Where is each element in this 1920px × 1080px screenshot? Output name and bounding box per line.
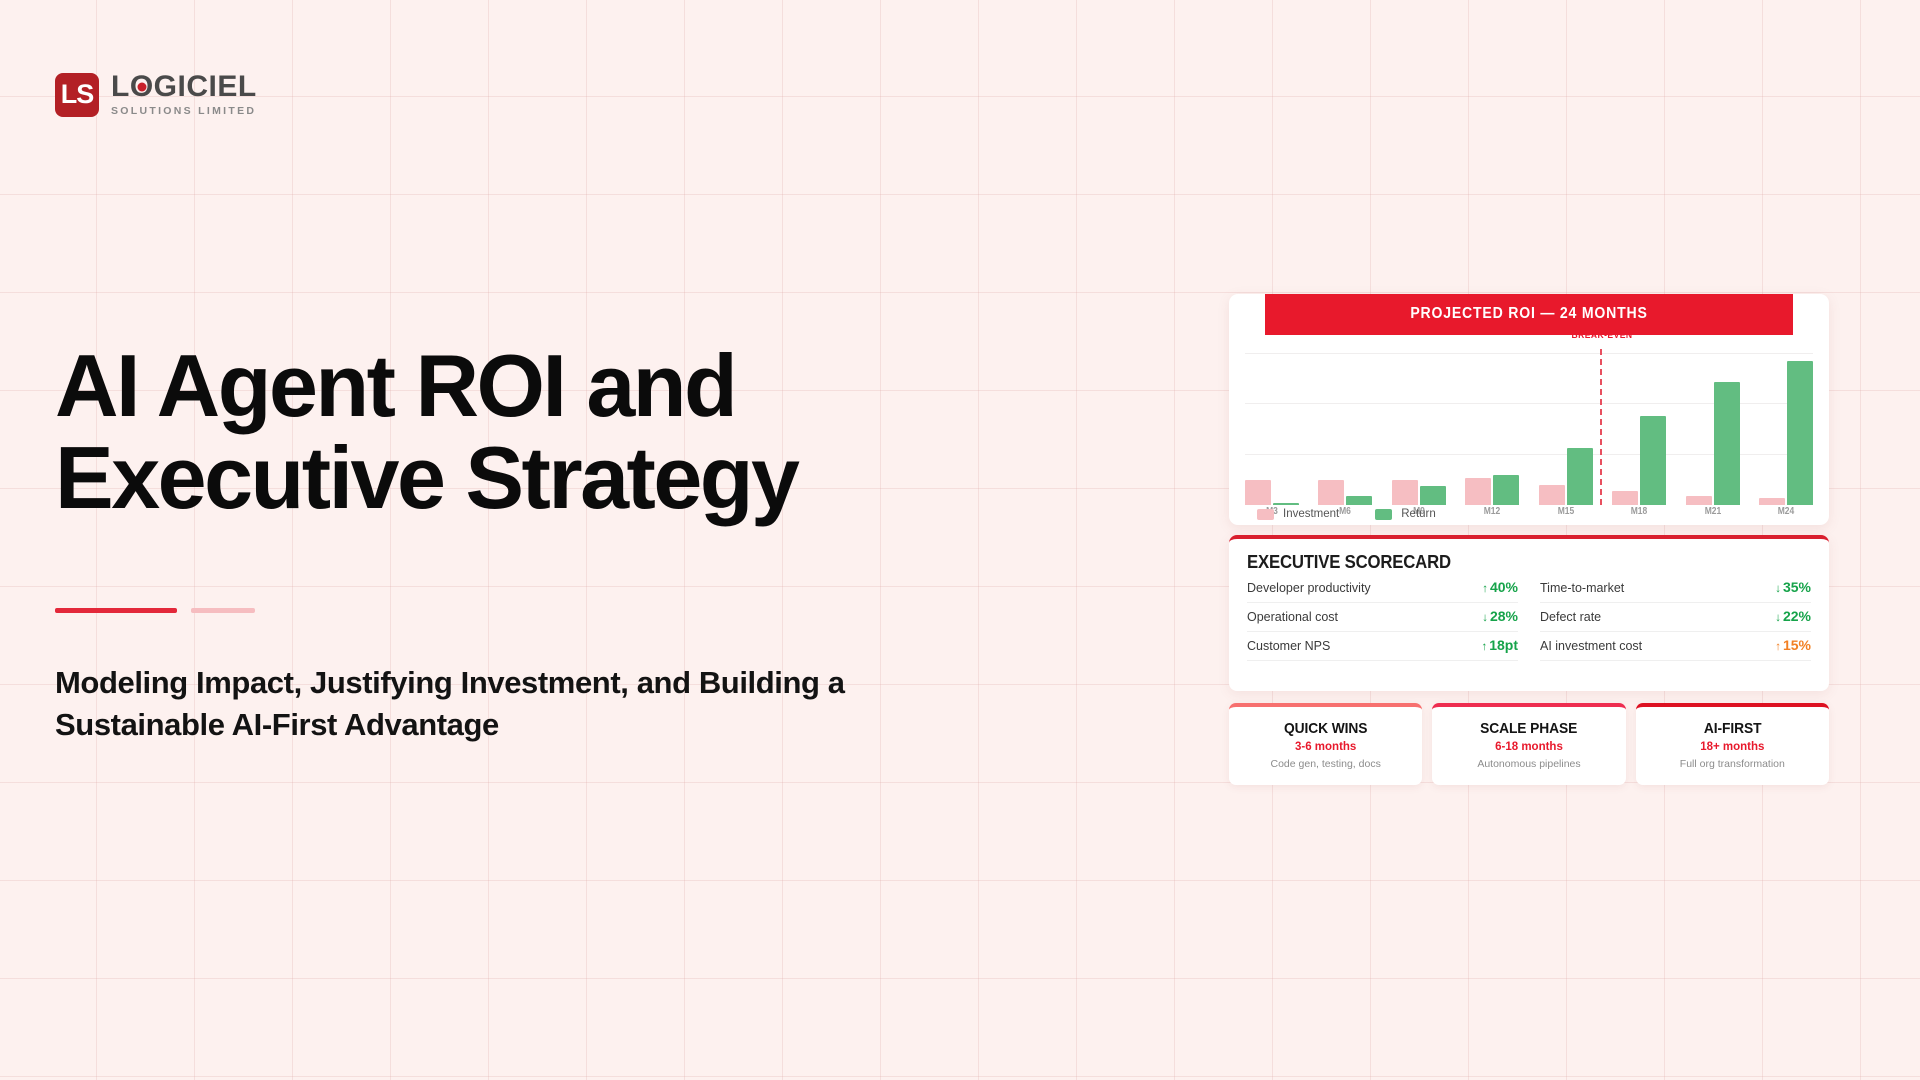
scorecard-metric-value: ↓35%	[1775, 579, 1811, 595]
phase-card-title: SCALE PHASE	[1447, 720, 1610, 737]
trend-arrow-icon: ↑	[1775, 641, 1781, 653]
trend-arrow-icon: ↑	[1481, 641, 1487, 653]
x-axis-tick-m18: M18	[1616, 506, 1662, 517]
chart-bar-investment-m15	[1539, 485, 1565, 505]
chart-bar-return-m15	[1567, 448, 1593, 505]
projected-roi-card: PROJECTED ROI — 24 MONTHS BREAK-EVEN M3M…	[1229, 294, 1829, 525]
scorecard-row: Operational cost↓28%	[1247, 603, 1518, 632]
projected-roi-card-header: PROJECTED ROI — 24 MONTHS	[1265, 294, 1793, 335]
chart-bar-group	[1465, 475, 1519, 505]
scorecard-metric-label: Defect rate	[1540, 610, 1601, 624]
phase-card-description: Code gen, testing, docs	[1237, 758, 1414, 770]
roi-panel: PROJECTED ROI — 24 MONTHS BREAK-EVEN M3M…	[1229, 294, 1829, 785]
scorecard-metric-number: 35%	[1783, 579, 1811, 595]
scorecard-row: Defect rate↓22%	[1540, 603, 1811, 632]
scorecard-metric-label: AI investment cost	[1540, 639, 1642, 653]
scorecard-metric-label: Customer NPS	[1247, 639, 1330, 653]
trend-arrow-icon: ↑	[1482, 583, 1488, 595]
chart-bar-investment-m9	[1392, 480, 1418, 505]
scorecard-metric-number: 40%	[1490, 579, 1518, 595]
brand-logo: LS L O GICIEL SOLUTIONS LIMITED	[55, 72, 257, 117]
chart-bar-group	[1318, 480, 1372, 505]
logo-mark-ls: LS	[55, 73, 99, 117]
legend-swatch-return	[1375, 509, 1392, 520]
chart-bar-investment-m3	[1245, 480, 1271, 505]
executive-scorecard-card: EXECUTIVE SCORECARD Developer productivi…	[1229, 535, 1829, 691]
logo-name-part-1: L	[111, 72, 130, 102]
page-title: AI Agent ROI and Executive Strategy	[55, 340, 1065, 525]
scorecard-row: Customer NPS↑18pt	[1247, 632, 1518, 661]
phase-card-duration: 3-6 months	[1237, 741, 1414, 753]
logo-target-o-icon: O	[130, 72, 154, 102]
page-subtitle: Modeling Impact, Justifying Investment, …	[55, 662, 915, 746]
scorecard-metric-number: 18pt	[1489, 637, 1518, 653]
trend-arrow-icon: ↓	[1482, 612, 1488, 624]
chart-bar-group	[1392, 480, 1446, 505]
trend-arrow-icon: ↓	[1775, 583, 1781, 595]
chart-bar-investment-m6	[1318, 480, 1344, 505]
chart-bar-group	[1539, 448, 1593, 505]
logo-company-name: L O GICIEL	[111, 72, 257, 102]
legend-swatch-investment	[1257, 509, 1274, 520]
chart-bar-return-m3	[1273, 503, 1299, 505]
phase-card-title: AI-FIRST	[1651, 720, 1814, 737]
x-axis-tick-m24: M24	[1763, 506, 1809, 517]
scorecard-row: Developer productivity↑40%	[1247, 574, 1518, 603]
phase-card-title: QUICK WINS	[1244, 720, 1407, 737]
chart-bar-investment-m21	[1686, 496, 1712, 505]
chart-bar-return-m12	[1493, 475, 1519, 505]
logo-name-part-2: GICIEL	[154, 72, 257, 102]
chart-bar-return-m18	[1640, 416, 1666, 505]
chart-bar-investment-m12	[1465, 478, 1491, 505]
legend-label-investment: Investment	[1283, 508, 1339, 520]
phase-card-quick-wins[interactable]: QUICK WINS3-6 monthsCode gen, testing, d…	[1229, 703, 1422, 785]
chart-bar-return-m21	[1714, 382, 1740, 506]
chart-bar-group	[1759, 361, 1813, 505]
chart-bar-groups	[1245, 353, 1813, 505]
breakeven-label: BREAK-EVEN	[1571, 330, 1632, 341]
chart-bar-group	[1245, 480, 1299, 505]
phase-card-ai-first[interactable]: AI-FIRST18+ monthsFull org transformatio…	[1636, 703, 1829, 785]
chart-bar-return-m9	[1420, 486, 1446, 505]
accent-divider	[55, 608, 255, 613]
roi-bar-chart: BREAK-EVEN M3M6M9M12M15M18M21M24 Investm…	[1229, 335, 1829, 525]
phase-card-duration: 18+ months	[1644, 741, 1821, 753]
scorecard-title: EXECUTIVE SCORECARD	[1247, 552, 1772, 573]
chart-plot-area: BREAK-EVEN	[1245, 353, 1813, 505]
chart-bar-investment-m24	[1759, 498, 1785, 505]
scorecard-metric-label: Operational cost	[1247, 610, 1338, 624]
x-axis-tick-m12: M12	[1469, 506, 1515, 517]
logo-tagline: SOLUTIONS LIMITED	[111, 105, 257, 117]
accent-bar-primary	[55, 608, 177, 613]
chart-bar-group	[1686, 382, 1740, 506]
scorecard-row: Time-to-market↓35%	[1540, 574, 1811, 603]
scorecard-metric-number: 28%	[1490, 608, 1518, 624]
chart-legend: Investment Return	[1257, 508, 1436, 520]
chart-bar-return-m6	[1346, 496, 1372, 505]
scorecard-metric-number: 15%	[1783, 637, 1811, 653]
chart-bar-group	[1612, 416, 1666, 505]
phase-card-description: Autonomous pipelines	[1440, 758, 1617, 770]
scorecard-metric-value: ↓22%	[1775, 608, 1811, 624]
logo-wordmark: L O GICIEL SOLUTIONS LIMITED	[111, 72, 257, 117]
phase-card-duration: 6-18 months	[1440, 741, 1617, 753]
scorecard-metric-label: Time-to-market	[1540, 581, 1624, 595]
accent-bar-secondary	[191, 608, 255, 613]
trend-arrow-icon: ↓	[1775, 612, 1781, 624]
scorecard-row: AI investment cost↑15%	[1540, 632, 1811, 661]
legend-label-return: Return	[1401, 508, 1436, 520]
logo-o-dot-icon	[137, 83, 146, 92]
phase-card-scale-phase[interactable]: SCALE PHASE6-18 monthsAutonomous pipelin…	[1432, 703, 1625, 785]
breakeven-line: BREAK-EVEN	[1600, 349, 1602, 505]
scorecard-metric-value: ↑18pt	[1481, 637, 1518, 653]
scorecard-metric-value: ↑40%	[1482, 579, 1518, 595]
x-axis-tick-m15: M15	[1543, 506, 1589, 517]
scorecard-metric-label: Developer productivity	[1247, 581, 1371, 595]
chart-bar-return-m24	[1787, 361, 1813, 505]
scorecard-metrics-grid: Developer productivity↑40%Time-to-market…	[1247, 574, 1811, 661]
scorecard-metric-number: 22%	[1783, 608, 1811, 624]
scorecard-metric-value: ↓28%	[1482, 608, 1518, 624]
chart-bar-investment-m18	[1612, 491, 1638, 505]
x-axis-tick-m21: M21	[1690, 506, 1736, 517]
phase-card-description: Full org transformation	[1644, 758, 1821, 770]
adoption-phase-cards: QUICK WINS3-6 monthsCode gen, testing, d…	[1229, 703, 1829, 785]
scorecard-metric-value: ↑15%	[1775, 637, 1811, 653]
